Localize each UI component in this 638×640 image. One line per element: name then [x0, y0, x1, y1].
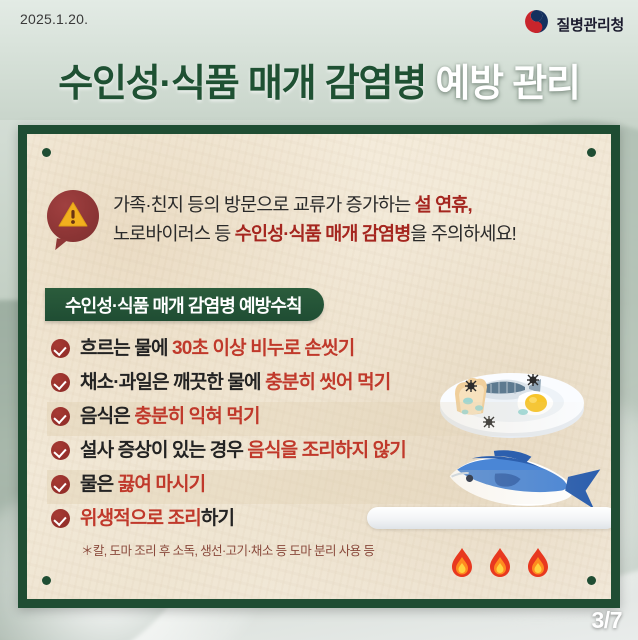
checklist-text-emphasis: 충분히 씻어 먹기: [265, 372, 390, 393]
checklist-item-text: 흐르는 물에 30초 이상 비누로 손씻기: [80, 334, 354, 363]
warning-callout: 가족·친지 등의 방문으로 교류가 증가하는 설 연휴, 노로바이러스 등 수인…: [47, 190, 593, 248]
warning-text-line2: 노로바이러스 등 수인성·식품 매개 감염병을 주의하세요!: [113, 220, 516, 249]
check-circle-icon: [51, 509, 70, 528]
corner-dot-top-left: [42, 148, 51, 157]
warning-text-line1: 가족·친지 등의 방문으로 교류가 증가하는 설 연휴,: [113, 191, 516, 220]
checklist-text-pre: 물은: [80, 474, 118, 495]
agency-branding: 질병관리청: [524, 9, 624, 39]
warning-line2-suffix: 을 주의하세요!: [410, 223, 516, 244]
checklist-item-text: 음식은 충분히 익혀 먹기: [80, 402, 260, 431]
checklist-item: 설사 증상이 있는 경우 음식을 조리하지 않기: [47, 436, 597, 470]
checklist-item: 채소·과일은 깨끗한 물에 충분히 씻어 먹기: [47, 368, 597, 402]
checklist-footnote: ＊칼, 도마 조리 후 소독, 생선·고기·채소 등 도마 분리 사용 등: [81, 540, 597, 559]
checklist-item: 위생적으로 조리하기: [47, 504, 597, 538]
agency-name: 질병관리청: [556, 14, 624, 35]
corner-dot-bottom-left: [42, 576, 51, 585]
check-circle-icon: [51, 475, 70, 494]
corner-dot-top-right: [587, 148, 596, 157]
publish-date: 2025.1.20.: [20, 11, 88, 27]
warning-line1-emphasis: 설 연휴,: [415, 194, 472, 215]
checklist-text-pre: 채소·과일은 깨끗한 물에: [80, 372, 265, 393]
checklist-item-text: 위생적으로 조리하기: [80, 504, 234, 533]
check-circle-icon: [51, 441, 70, 460]
page-title: 수인성·식품 매개 감염병 예방 관리: [0, 52, 638, 107]
page-title-part2: 예방 관리: [435, 63, 579, 105]
checklist-item-text: 채소·과일은 깨끗한 물에 충분히 씻어 먹기: [80, 368, 390, 397]
warning-bubble: [47, 190, 99, 242]
checklist-item-text: 설사 증상이 있는 경우 음식을 조리하지 않기: [80, 436, 406, 465]
checklist-text-emphasis: 충분히 익혀 먹기: [134, 406, 259, 427]
section-heading-label: 수인성·식품 매개 감염병 예방수칙: [65, 292, 302, 318]
checklist-text-emphasis: 30초 이상 비누로 손씻기: [172, 338, 354, 359]
warning-line1-plain: 가족·친지 등의 방문으로 교류가 증가하는: [113, 194, 415, 215]
checklist-text-pre: 음식은: [80, 406, 134, 427]
checklist-text-pre: 설사 증상이 있는 경우: [80, 440, 247, 461]
content-card: 가족·친지 등의 방문으로 교류가 증가하는 설 연휴, 노로바이러스 등 수인…: [18, 125, 620, 608]
page-title-part1: 수인성·식품 매개 감염병: [58, 63, 426, 105]
checklist-item: 흐르는 물에 30초 이상 비누로 손씻기: [47, 334, 597, 368]
page-indicator: 3/7: [592, 607, 622, 634]
section-heading-bar: 수인성·식품 매개 감염병 예방수칙: [45, 288, 324, 321]
taegeuk-logo-icon: [524, 9, 549, 39]
warning-triangle-icon: [58, 201, 88, 233]
checklist-text-post: 하기: [201, 508, 234, 529]
checklist-text-pre: 흐르는 물에: [80, 338, 172, 359]
checklist-text-emphasis: 음식을 조리하지 않기: [247, 440, 406, 461]
check-circle-icon: [51, 339, 70, 358]
warning-line2-plain: 노로바이러스 등: [113, 223, 235, 244]
check-circle-icon: [51, 407, 70, 426]
warning-text: 가족·친지 등의 방문으로 교류가 증가하는 설 연휴, 노로바이러스 등 수인…: [113, 190, 516, 248]
prevention-checklist: 흐르는 물에 30초 이상 비누로 손씻기 채소·과일은 깨끗한 물에 충분히 …: [47, 334, 597, 559]
checklist-text-emphasis: 끓여 마시기: [118, 474, 206, 495]
checklist-item: 음식은 충분히 익혀 먹기: [47, 402, 597, 436]
check-circle-icon: [51, 373, 70, 392]
warning-line2-emphasis: 수인성·식품 매개 감염병: [235, 223, 411, 244]
content-card-inner: 가족·친지 등의 방문으로 교류가 증가하는 설 연휴, 노로바이러스 등 수인…: [27, 134, 611, 599]
checklist-item-text: 물은 끓여 마시기: [80, 470, 205, 499]
corner-dot-bottom-right: [587, 576, 596, 585]
checklist-text-emphasis: 위생적으로 조리: [80, 508, 201, 529]
checklist-item: 물은 끓여 마시기: [47, 470, 597, 504]
